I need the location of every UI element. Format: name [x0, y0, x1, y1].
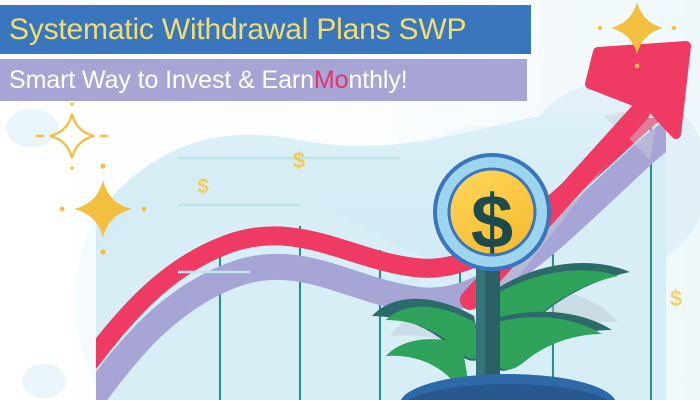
decor-blob	[6, 109, 58, 147]
dollar-symbol: $	[293, 148, 305, 173]
banner-subtitle-prefix: Smart Way to Invest & Earn	[9, 66, 314, 95]
banner-title-bar: Systematic Withdrawal Plans SWP	[0, 5, 531, 54]
decor-blob	[22, 364, 66, 398]
banner-subtitle-highlight: Mo	[314, 66, 349, 95]
dollar-symbol: $	[197, 176, 208, 198]
banner-subtitle-bar: Smart Way to Invest & Earn Monthly!	[0, 59, 527, 101]
dollar-coin: $	[435, 155, 549, 269]
banner-subtitle-suffix: nthly!	[348, 66, 407, 95]
banner-title-text: Systematic Withdrawal Plans SWP	[9, 13, 466, 47]
banner-image: $ $ $ $	[0, 0, 700, 400]
dollar-symbol: $	[670, 286, 682, 311]
coin-dollar-symbol: $	[471, 180, 513, 265]
